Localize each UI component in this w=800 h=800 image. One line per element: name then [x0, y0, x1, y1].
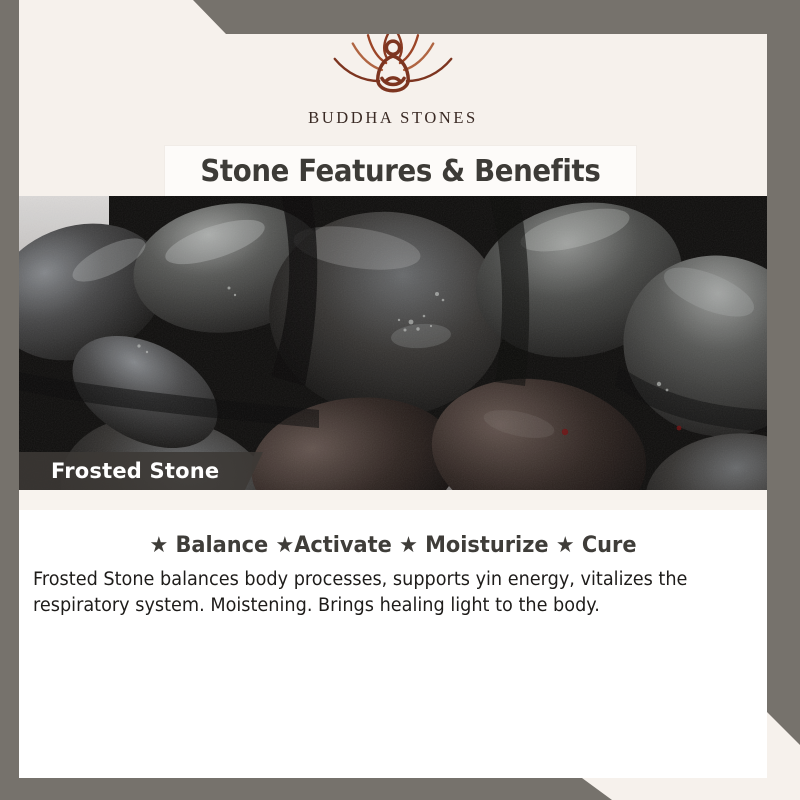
benefits-line: ★ Balance ★Activate ★ Moisturize ★ Cure: [38, 533, 749, 558]
stone-photo: Frosted Stone: [19, 196, 767, 490]
stone-caption-label: Frosted Stone: [51, 459, 219, 483]
infographic-root: BUDDHA STONES Stone Features & Benefits: [0, 0, 800, 800]
stone-caption: Frosted Stone: [19, 452, 245, 490]
description-line-1: Frosted Stone balances body processes, s…: [33, 569, 687, 590]
brand-name: BUDDHA STONES: [308, 108, 478, 128]
title-banner: Stone Features & Benefits: [165, 146, 636, 196]
frame-accent-left: [0, 0, 19, 800]
frame-accent-right: [767, 0, 800, 800]
frame-accent-bottom: [0, 778, 800, 800]
description-text: Frosted Stone balances body processes, s…: [33, 567, 721, 618]
page-title: Stone Features & Benefits: [201, 154, 601, 189]
body-section: ★ Balance ★Activate ★ Moisturize ★ Cure …: [19, 490, 767, 618]
body-top-strip: [19, 490, 767, 510]
product-info-card: BUDDHA STONES Stone Features & Benefits: [19, 0, 767, 778]
brand-logo: BUDDHA STONES: [19, 20, 767, 128]
description-line-2: respiratory system. Moistening. Brings h…: [33, 595, 600, 616]
stone-photo-image: [19, 196, 767, 490]
